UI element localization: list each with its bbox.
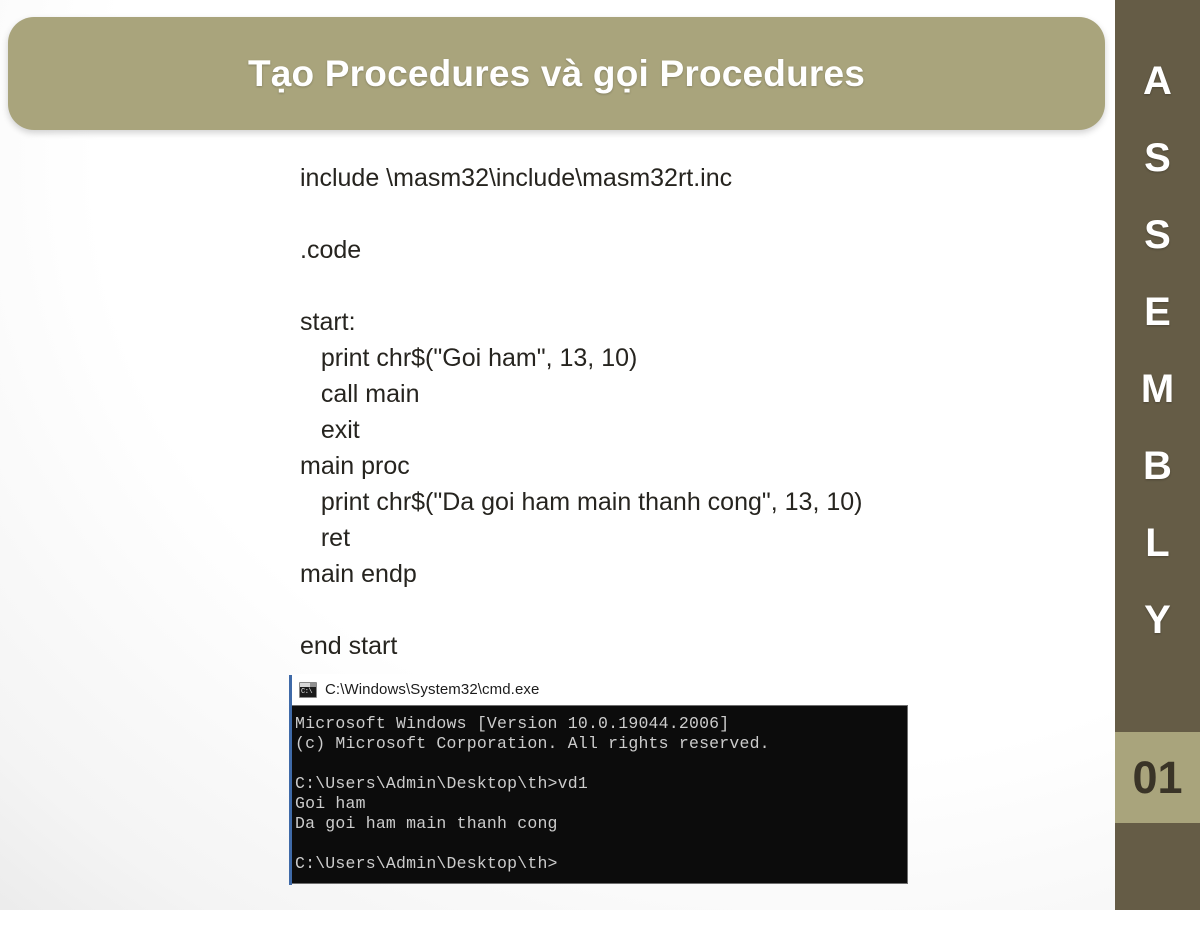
code-line: .code bbox=[300, 232, 1060, 268]
title-banner: Tạo Procedures và gọi Procedures bbox=[8, 17, 1105, 130]
code-line: ret bbox=[300, 520, 1060, 556]
terminal-line bbox=[295, 834, 907, 854]
sidebar-letter: S bbox=[1115, 119, 1200, 196]
code-line: main proc bbox=[300, 448, 1060, 484]
code-block: include \masm32\include\masm32rt.inc .co… bbox=[300, 160, 1060, 664]
cmd-exe-icon: C:\ bbox=[299, 682, 317, 698]
terminal-line: Da goi ham main thanh cong bbox=[295, 814, 907, 834]
slide: Tạo Procedures và gọi Procedures include… bbox=[0, 0, 1200, 927]
terminal-left-rail bbox=[289, 675, 292, 885]
code-line: print chr$("Goi ham", 13, 10) bbox=[300, 340, 1060, 376]
terminal-title-label: C:\Windows\System32\cmd.exe bbox=[325, 681, 539, 698]
terminal-line: Goi ham bbox=[295, 794, 907, 814]
terminal-window: C:\ C:\Windows\System32\cmd.exe Microsof… bbox=[292, 674, 908, 884]
code-line: end start bbox=[300, 628, 1060, 664]
code-line bbox=[300, 592, 1060, 628]
sidebar-number-band: 01 bbox=[1115, 732, 1200, 823]
sidebar-letter: A bbox=[1115, 42, 1200, 119]
cmd-exe-icon-glyph: C:\ bbox=[301, 687, 312, 697]
terminal-line bbox=[295, 754, 907, 774]
sidebar-letter: B bbox=[1115, 427, 1200, 504]
code-line: exit bbox=[300, 412, 1060, 448]
code-line: call main bbox=[300, 376, 1060, 412]
sidebar-letter: L bbox=[1115, 504, 1200, 581]
code-line bbox=[300, 196, 1060, 232]
sidebar-vertical-title: ASSEMBLY bbox=[1115, 42, 1200, 658]
terminal-output: Microsoft Windows [Version 10.0.19044.20… bbox=[292, 705, 908, 884]
code-line: include \masm32\include\masm32rt.inc bbox=[300, 160, 1060, 196]
sidebar-letter: M bbox=[1115, 350, 1200, 427]
code-line: print chr$("Da goi ham main thanh cong",… bbox=[300, 484, 1060, 520]
terminal-line: Microsoft Windows [Version 10.0.19044.20… bbox=[295, 714, 907, 734]
page-title: Tạo Procedures và gọi Procedures bbox=[248, 53, 865, 95]
code-line: start: bbox=[300, 304, 1060, 340]
sidebar-letter: Y bbox=[1115, 581, 1200, 658]
sidebar-letter: E bbox=[1115, 273, 1200, 350]
terminal-line: C:\Users\Admin\Desktop\th> bbox=[295, 854, 907, 874]
title-banner-inner: Tạo Procedures và gọi Procedures bbox=[8, 17, 1105, 130]
code-line bbox=[300, 268, 1060, 304]
slide-number: 01 bbox=[1132, 755, 1182, 800]
code-line: main endp bbox=[300, 556, 1060, 592]
terminal-line: C:\Users\Admin\Desktop\th>vd1 bbox=[295, 774, 907, 794]
terminal-titlebar: C:\ C:\Windows\System32\cmd.exe bbox=[292, 674, 908, 705]
terminal-line: (c) Microsoft Corporation. All rights re… bbox=[295, 734, 907, 754]
sidebar-letter: S bbox=[1115, 196, 1200, 273]
sidebar: ASSEMBLY 01 bbox=[1115, 0, 1200, 910]
